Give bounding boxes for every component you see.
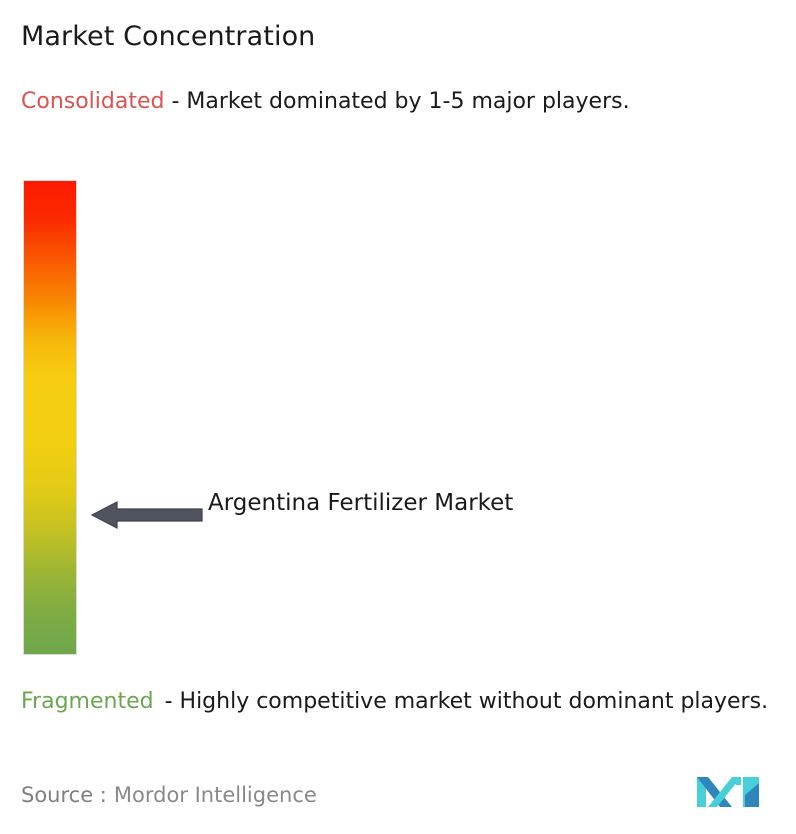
marker-label: Argentina Fertilizer Market <box>208 485 538 521</box>
page-title: Market Concentration <box>21 20 315 54</box>
source-attribution: Source :Mordor Intelligence <box>21 781 317 809</box>
legend-consolidated-term: Consolidated <box>21 89 164 114</box>
concentration-scale <box>24 181 76 654</box>
concentration-gradient-bar <box>24 181 76 654</box>
legend-consolidated: Consolidated- Market dominated by 1-5 ma… <box>21 86 761 117</box>
legend-fragmented: Fragmented- Highly competitive market wi… <box>21 686 783 717</box>
legend-fragmented-term: Fragmented <box>21 689 154 714</box>
market-concentration-infographic: Market Concentration Consolidated- Marke… <box>0 0 796 834</box>
marker-arrow-left-icon <box>91 500 203 530</box>
legend-fragmented-description: - Highly competitive market without domi… <box>165 689 768 714</box>
source-label: Source : <box>21 783 107 807</box>
mordor-intelligence-logo-icon <box>697 773 759 811</box>
legend-consolidated-description: - Market dominated by 1-5 major players. <box>171 89 629 114</box>
source-value: Mordor Intelligence <box>114 783 317 807</box>
